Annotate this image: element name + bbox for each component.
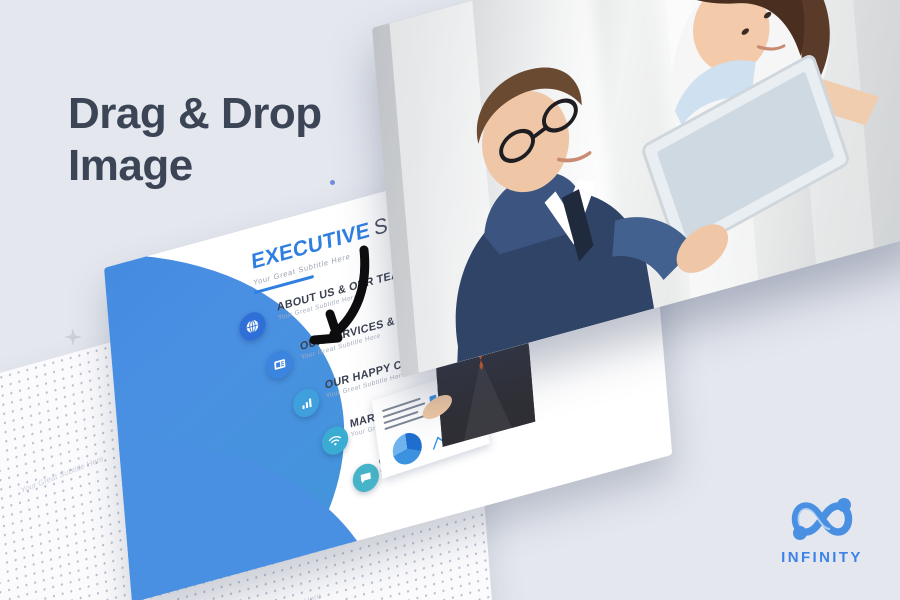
canvas: Drag & Drop Image Your Great Subtitle He… bbox=[0, 0, 900, 600]
wifi-icon bbox=[327, 431, 343, 450]
chat-icon bbox=[358, 468, 374, 487]
drag-arrow bbox=[268, 236, 378, 361]
toc-bullet-chat[interactable] bbox=[352, 461, 380, 495]
globe-icon bbox=[245, 317, 261, 336]
bar-chart-icon bbox=[299, 394, 314, 412]
accent-dot bbox=[330, 180, 335, 185]
brand-name: INFINITY bbox=[776, 549, 868, 566]
infinity-loop-mark-icon bbox=[784, 496, 860, 542]
curved-down-arrow-icon bbox=[268, 236, 378, 356]
ghost-label: Your Great Subtitle Here bbox=[20, 454, 104, 495]
headline-line-2: Image bbox=[68, 140, 408, 192]
sparkle-icon bbox=[62, 326, 84, 348]
headline-line-1: Drag & Drop bbox=[68, 89, 322, 138]
brand-logo: INFINITY bbox=[776, 496, 868, 566]
ghost-label: Your Great Subtitle Here bbox=[238, 591, 322, 600]
page-title: Drag & Drop Image bbox=[68, 88, 408, 192]
